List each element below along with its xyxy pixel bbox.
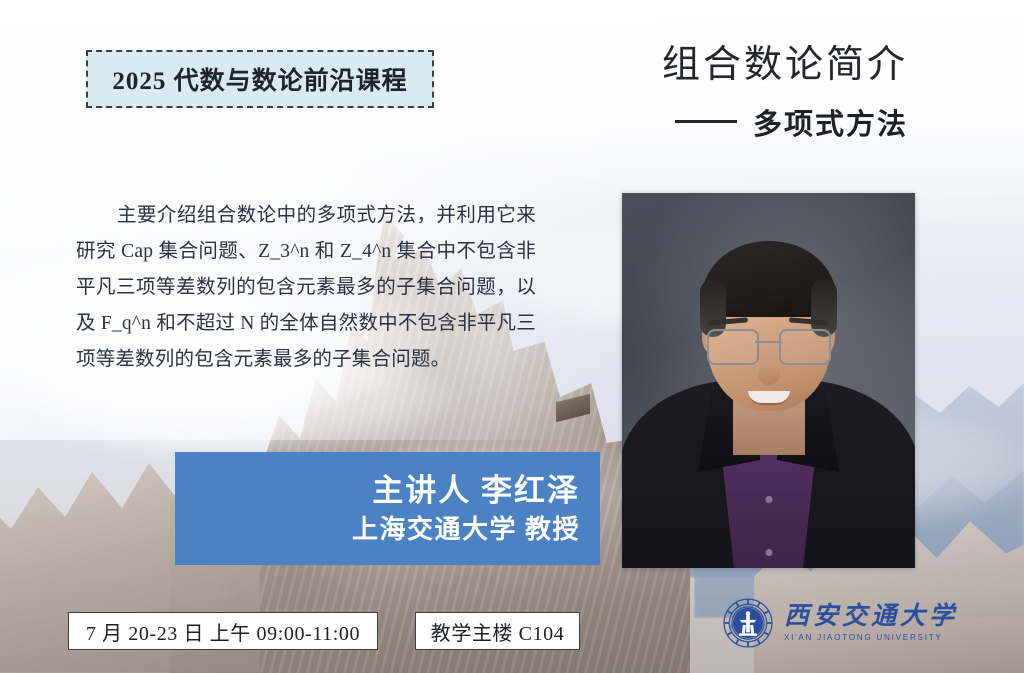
speaker-affiliation: 上海交通大学 教授 bbox=[352, 512, 580, 547]
logo-wordmark: 西安交通大学 XI'AN JIAOTONG UNIVERSITY bbox=[784, 604, 958, 642]
university-name-cn: 西安交通大学 bbox=[784, 604, 958, 630]
university-seal-icon: 1896 bbox=[722, 597, 774, 649]
page-subtitle: 多项式方法 bbox=[753, 101, 908, 143]
portrait-lens-left bbox=[707, 329, 759, 365]
venue-label: 教学主楼 C104 bbox=[431, 617, 565, 646]
abstract-text: 主要介绍组合数论中的多项式方法，并利用它来研究 Cap 集合问题、Z_3^n 和… bbox=[76, 198, 536, 378]
venue-box: 教学主楼 C104 bbox=[415, 612, 580, 650]
date-time-label: 7 月 20-23 日 上午 09:00-11:00 bbox=[86, 617, 360, 646]
page-title: 组合数论简介 bbox=[662, 44, 908, 87]
portrait-shirt-button bbox=[765, 496, 772, 503]
title-block: 组合数论简介 多项式方法 bbox=[662, 44, 908, 143]
dash-rule-icon bbox=[675, 120, 737, 123]
speaker-portrait-photo bbox=[622, 193, 915, 568]
poster-root: 2025 代数与数论前沿课程 组合数论简介 多项式方法 主要介绍组合数论中的多项… bbox=[0, 0, 1024, 673]
portrait-shirt-button bbox=[765, 549, 772, 556]
glasses-icon bbox=[707, 329, 831, 363]
speaker-banner: 主讲人 李红泽 上海交通大学 教授 bbox=[175, 452, 600, 565]
portrait-lens-right bbox=[779, 329, 831, 365]
date-time-box: 7 月 20-23 日 上午 09:00-11:00 bbox=[68, 612, 378, 650]
university-name-en: XI'AN JIAOTONG UNIVERSITY bbox=[784, 633, 958, 642]
university-logo: 1896 西安交通大学 XI'AN JIAOTONG UNIVERSITY bbox=[722, 592, 932, 654]
speaker-name: 主讲人 李红泽 bbox=[372, 470, 580, 512]
subtitle-row: 多项式方法 bbox=[662, 101, 908, 143]
course-series-label: 2025 代数与数论前沿课程 bbox=[112, 61, 407, 97]
course-series-badge: 2025 代数与数论前沿课程 bbox=[86, 50, 434, 108]
